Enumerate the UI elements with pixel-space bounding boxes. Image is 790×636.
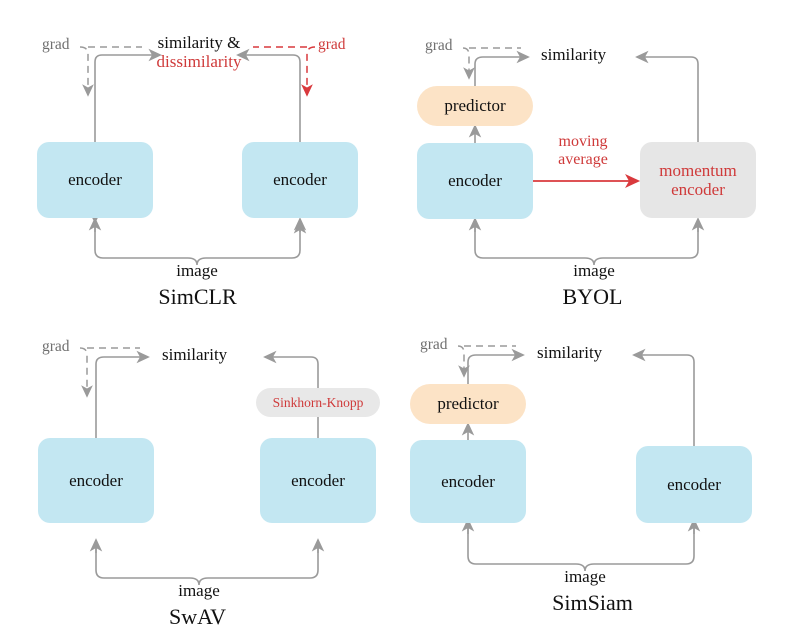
node-label: encoder <box>448 171 502 190</box>
simsiam-encoder-left[interactable]: encoder <box>410 440 526 523</box>
node-label: predictor <box>437 394 498 413</box>
panel-byol: predictor encoder momentum encoder grad … <box>395 0 790 318</box>
simclr-panel-title: SimCLR <box>158 284 236 310</box>
simclr-grad-label-right: grad <box>318 36 346 54</box>
byol-grad-label: grad <box>425 37 453 55</box>
swav-encoder-left[interactable]: encoder <box>38 438 154 523</box>
node-label: encoder <box>273 170 327 189</box>
byol-objective-label: similarity <box>541 45 606 64</box>
swav-sinkhorn-knopp[interactable]: Sinkhorn-Knopp <box>256 388 380 417</box>
node-label: predictor <box>444 96 505 115</box>
panel-swav: encoder encoder Sinkhorn-Knopp grad simi… <box>0 318 395 636</box>
swav-objective-label: similarity <box>162 345 227 364</box>
node-label-line2: encoder <box>671 180 725 199</box>
byol-predictor[interactable]: predictor <box>417 86 533 126</box>
simclr-image-label: image <box>176 261 218 280</box>
swav-encoder-right[interactable]: encoder <box>260 438 376 523</box>
node-label-line1: momentum <box>659 161 736 180</box>
node-label: encoder <box>69 471 123 490</box>
panel-simclr: encoder encoder grad grad similarity & d… <box>0 0 395 318</box>
simsiam-encoder-right[interactable]: encoder <box>636 446 752 523</box>
node-label: encoder <box>291 471 345 490</box>
simclr-objective-line2: dissimilarity <box>157 52 242 71</box>
node-label: Sinkhorn-Knopp <box>273 395 364 410</box>
byol-momentum-encoder[interactable]: momentum encoder <box>640 142 756 218</box>
moving-average-line2: average <box>558 151 608 169</box>
node-label: encoder <box>667 475 721 494</box>
simsiam-predictor[interactable]: predictor <box>410 384 526 424</box>
simsiam-panel-title: SimSiam <box>552 590 633 616</box>
moving-average-line1: moving <box>558 133 608 151</box>
simclr-grad-label-left: grad <box>42 36 70 54</box>
simclr-objective-label: similarity & dissimilarity <box>157 33 242 72</box>
simclr-encoder-left[interactable]: encoder <box>37 142 153 218</box>
byol-moving-average-label: moving average <box>558 133 608 168</box>
node-label: encoder <box>68 170 122 189</box>
byol-encoder[interactable]: encoder <box>417 143 533 219</box>
byol-image-label: image <box>573 261 615 280</box>
panel-simsiam: predictor encoder encoder grad similarit… <box>395 318 790 636</box>
simclr-encoder-right[interactable]: encoder <box>242 142 358 218</box>
swav-grad-label: grad <box>42 338 70 356</box>
simsiam-objective-label: similarity <box>537 343 602 362</box>
simclr-objective-line1: similarity & <box>157 33 242 52</box>
node-label: encoder <box>441 472 495 491</box>
swav-panel-title: SwAV <box>169 604 226 630</box>
self-supervised-frameworks-figure: encoder encoder grad grad similarity & d… <box>0 0 790 636</box>
simsiam-image-label: image <box>564 567 606 586</box>
simsiam-grad-label: grad <box>420 336 448 354</box>
byol-panel-title: BYOL <box>563 284 623 310</box>
swav-image-label: image <box>178 581 220 600</box>
